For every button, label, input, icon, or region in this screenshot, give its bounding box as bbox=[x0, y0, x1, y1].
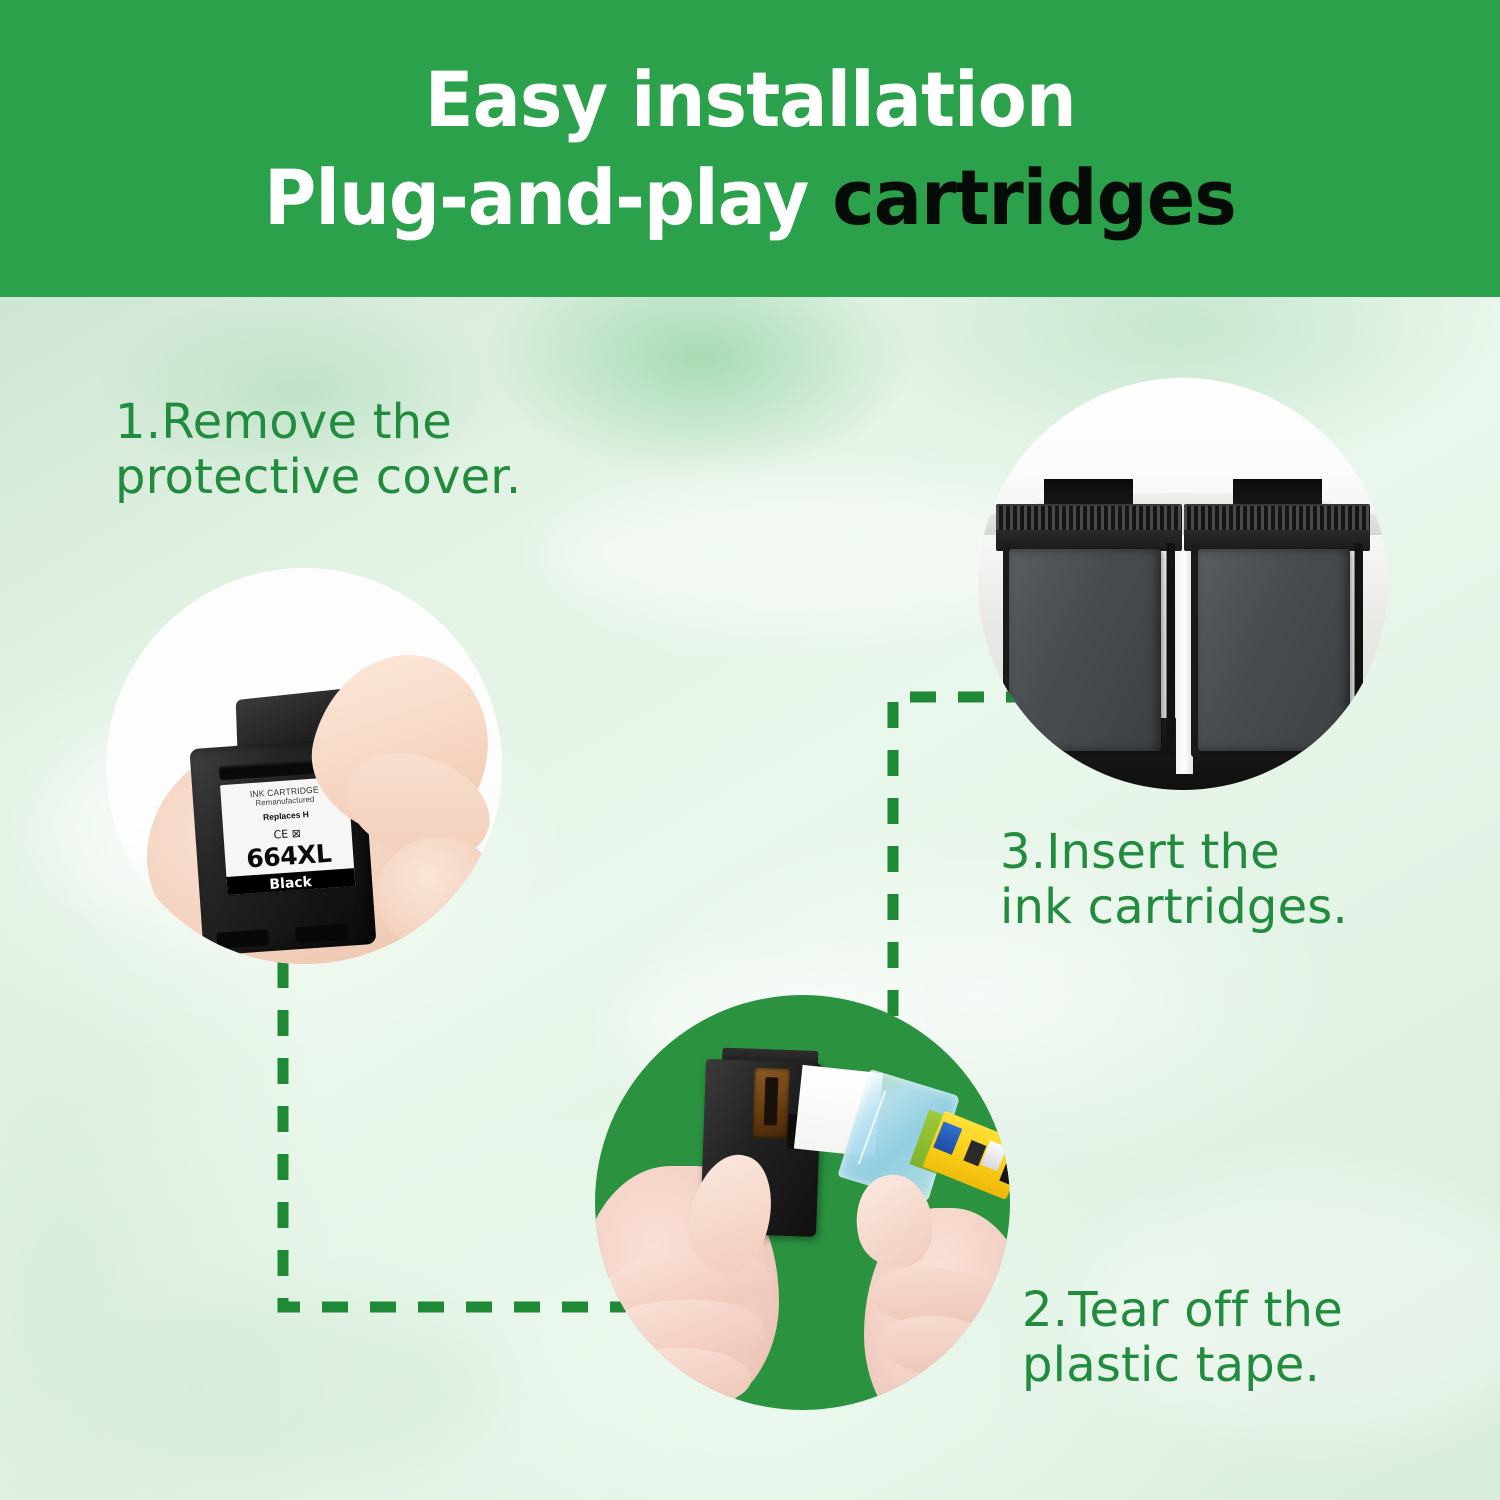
label-compliance-marks: CE ⊠ bbox=[273, 826, 301, 841]
knuckle bbox=[377, 837, 501, 951]
step-3-photo bbox=[978, 378, 1388, 790]
step-2-label: 2.Tear off the plastic tape. bbox=[1022, 1283, 1343, 1393]
nozzle-window bbox=[764, 1077, 778, 1126]
step-3-label: 3.Insert the ink cartridges. bbox=[1000, 825, 1348, 935]
step-1-label: 1.Remove the protective cover. bbox=[115, 395, 521, 505]
headline-line-2-accent: cartridges bbox=[832, 153, 1236, 242]
right-hand bbox=[852, 1169, 1010, 1410]
cartridge-ribs bbox=[1184, 506, 1370, 530]
infographic-canvas: Easy installation Plug-and-play cartridg… bbox=[0, 0, 1500, 1500]
hand: INK CARTRIDGE Remanufactured Replaces H … bbox=[122, 631, 502, 964]
headline-line-1: Easy installation bbox=[425, 52, 1076, 148]
label-model-number: 664XL bbox=[246, 841, 332, 872]
cartridge-face bbox=[1198, 549, 1350, 750]
installed-cartridge-left bbox=[1003, 543, 1175, 757]
header-banner: Easy installation Plug-and-play cartridg… bbox=[0, 0, 1500, 297]
installed-cartridge-right bbox=[1191, 543, 1363, 757]
cartridge-foot-left bbox=[216, 929, 269, 949]
label-line-replaces: Replaces H bbox=[263, 810, 309, 823]
cartridge-foot-right bbox=[295, 924, 348, 944]
step-1-photo: INK CARTRIDGE Remanufactured Replaces H … bbox=[106, 568, 502, 964]
headline-line-2-white: Plug-and-play bbox=[264, 153, 832, 242]
step-2-photo bbox=[595, 995, 1010, 1410]
cartridge-face bbox=[1009, 549, 1161, 750]
headline-line-2: Plug-and-play cartridges bbox=[264, 150, 1236, 246]
cartridge-ribs bbox=[996, 506, 1182, 530]
